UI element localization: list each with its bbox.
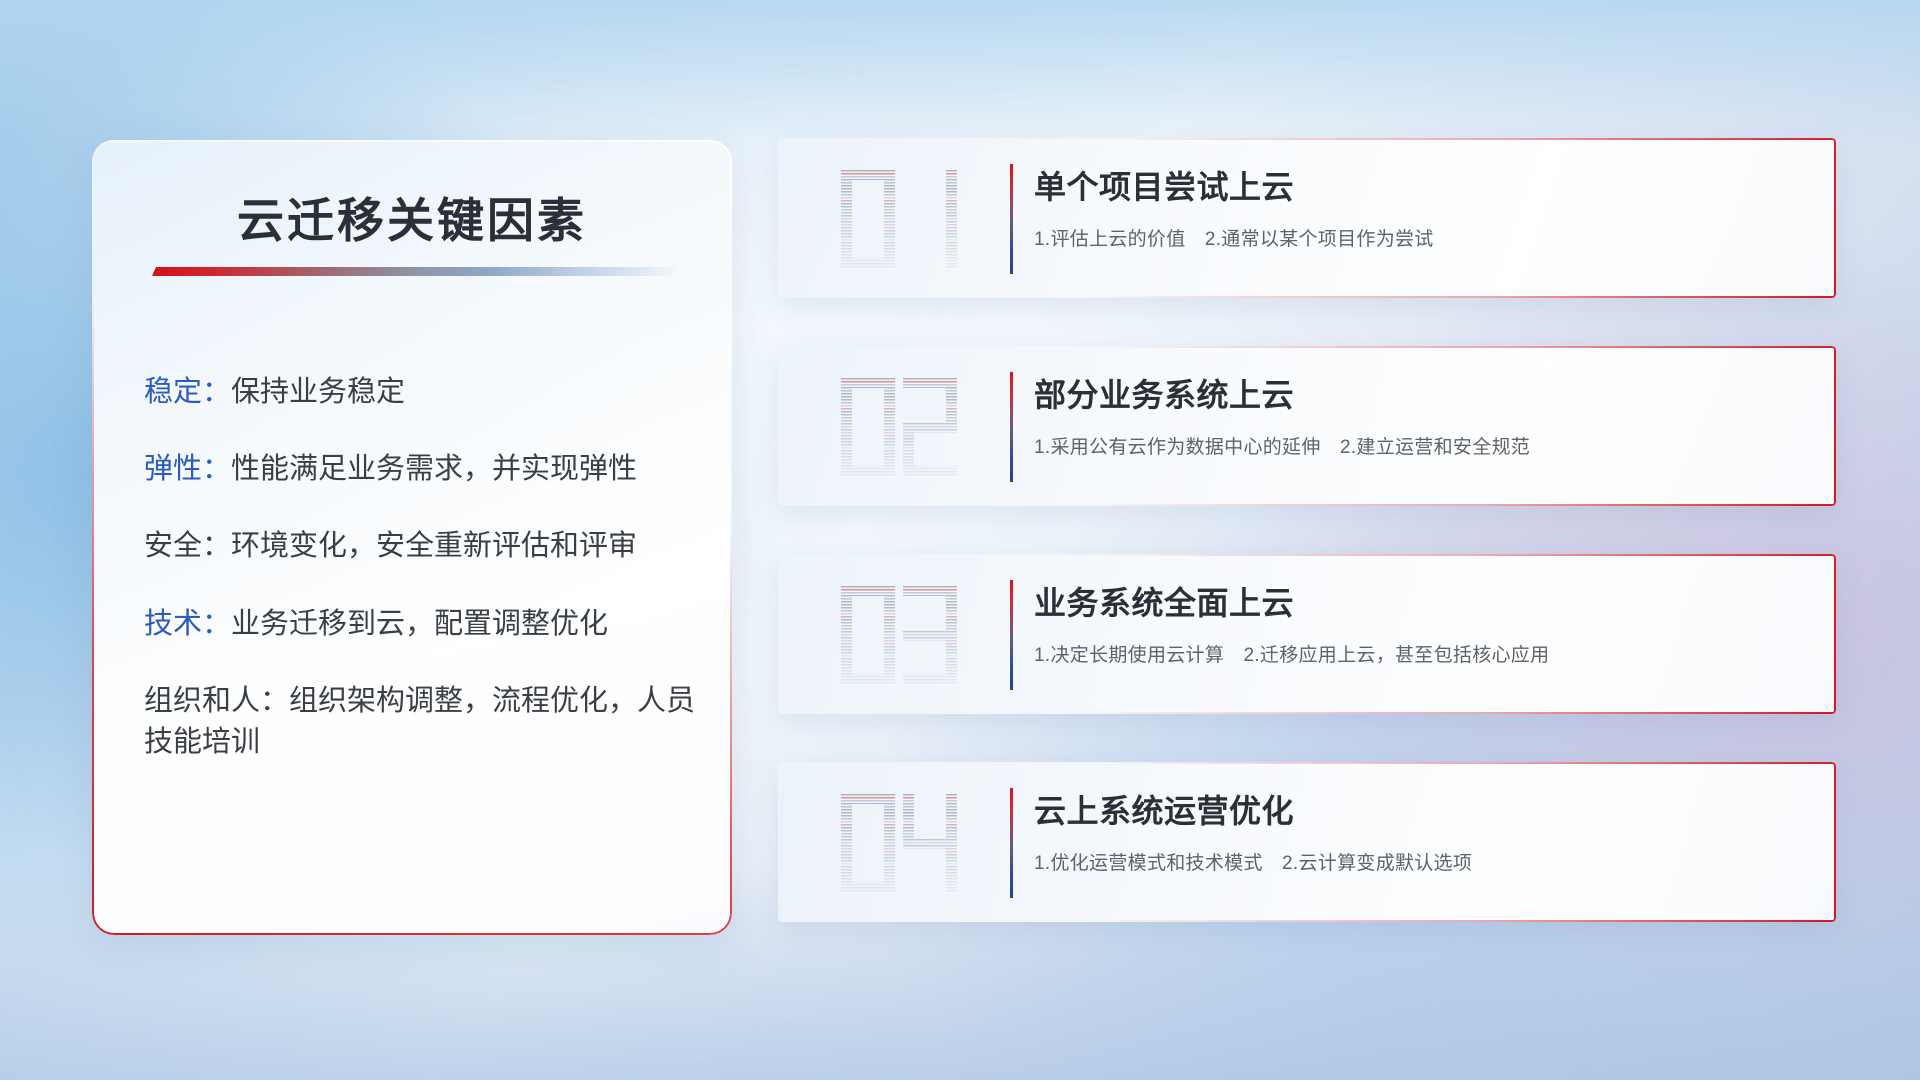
- factor-list: 稳定：保持业务稳定弹性：性能满足业务需求，并实现弹性安全：环境变化，安全重新评估…: [144, 372, 698, 799]
- factor-description: 性能满足业务需求，并实现弹性: [231, 453, 637, 485]
- card-divider-bar: [1010, 164, 1013, 274]
- card-description: 1.评估上云的价值 2.通常以某个项目作为尝试: [1034, 224, 1810, 251]
- stage-card[interactable]: 业务系统全面上云1.决定长期使用云计算 2.迁移应用上云，甚至包括核心应用: [778, 554, 1836, 714]
- factor-description: 环境变化，安全重新评估和评审: [231, 530, 637, 562]
- factor-description: 保持业务稳定: [231, 376, 405, 408]
- stage-card-list: 单个项目尝试上云1.评估上云的价值 2.通常以某个项目作为尝试部分业务系统上云1…: [778, 138, 1836, 970]
- key-factors-panel: 云迁移关键因素 稳定：保持业务稳定弹性：性能满足业务需求，并实现弹性安全：环境变…: [92, 140, 732, 935]
- card-divider-bar: [1010, 788, 1013, 898]
- card-title: 云上系统运营优化: [1034, 786, 1810, 832]
- stage-card[interactable]: 单个项目尝试上云1.评估上云的价值 2.通常以某个项目作为尝试: [778, 138, 1836, 298]
- title-underline-gradient: [152, 267, 676, 276]
- card-body: 云上系统运营优化1.优化运营模式和技术模式 2.云计算变成默认选项: [1034, 786, 1810, 875]
- factor-row: 技术：业务迁移到云，配置调整优化: [144, 604, 698, 645]
- stage-number-glyph: [814, 782, 984, 904]
- factor-row: 弹性：性能满足业务需求，并实现弹性: [144, 449, 698, 490]
- card-description: 1.采用公有云作为数据中心的延伸 2.建立运营和安全规范: [1034, 432, 1810, 459]
- card-body: 单个项目尝试上云1.评估上云的价值 2.通常以某个项目作为尝试: [1034, 162, 1810, 251]
- card-title: 部分业务系统上云: [1034, 370, 1810, 416]
- factor-row: 组织和人：组织架构调整，流程优化，人员技能培训: [144, 681, 698, 763]
- card-body: 业务系统全面上云1.决定长期使用云计算 2.迁移应用上云，甚至包括核心应用: [1034, 578, 1810, 667]
- stage-card[interactable]: 部分业务系统上云1.采用公有云作为数据中心的延伸 2.建立运营和安全规范: [778, 346, 1836, 506]
- page-title: 云迁移关键因素: [92, 182, 732, 251]
- stage-number-glyph: [814, 366, 984, 488]
- factor-description: 业务迁移到云，配置调整优化: [231, 608, 608, 640]
- card-description: 1.优化运营模式和技术模式 2.云计算变成默认选项: [1034, 848, 1810, 875]
- factor-label: 技术：: [144, 608, 231, 640]
- stage-card[interactable]: 云上系统运营优化1.优化运营模式和技术模式 2.云计算变成默认选项: [778, 762, 1836, 922]
- stage-number-glyph: [814, 574, 984, 696]
- card-body: 部分业务系统上云1.采用公有云作为数据中心的延伸 2.建立运营和安全规范: [1034, 370, 1810, 459]
- card-divider-bar: [1010, 372, 1013, 482]
- factor-row: 安全：环境变化，安全重新评估和评审: [144, 526, 698, 567]
- stage-number-glyph: [814, 158, 984, 280]
- card-title: 单个项目尝试上云: [1034, 162, 1810, 208]
- factor-label: 弹性：: [144, 453, 231, 485]
- factor-label: 稳定：: [144, 376, 231, 408]
- factor-label: 组织和人：: [144, 685, 289, 717]
- card-divider-bar: [1010, 580, 1013, 690]
- background-top-gradient: [0, 0, 1920, 150]
- factor-row: 稳定：保持业务稳定: [144, 372, 698, 413]
- card-description: 1.决定长期使用云计算 2.迁移应用上云，甚至包括核心应用: [1034, 640, 1810, 667]
- card-title: 业务系统全面上云: [1034, 578, 1810, 624]
- factor-label: 安全：: [144, 530, 231, 562]
